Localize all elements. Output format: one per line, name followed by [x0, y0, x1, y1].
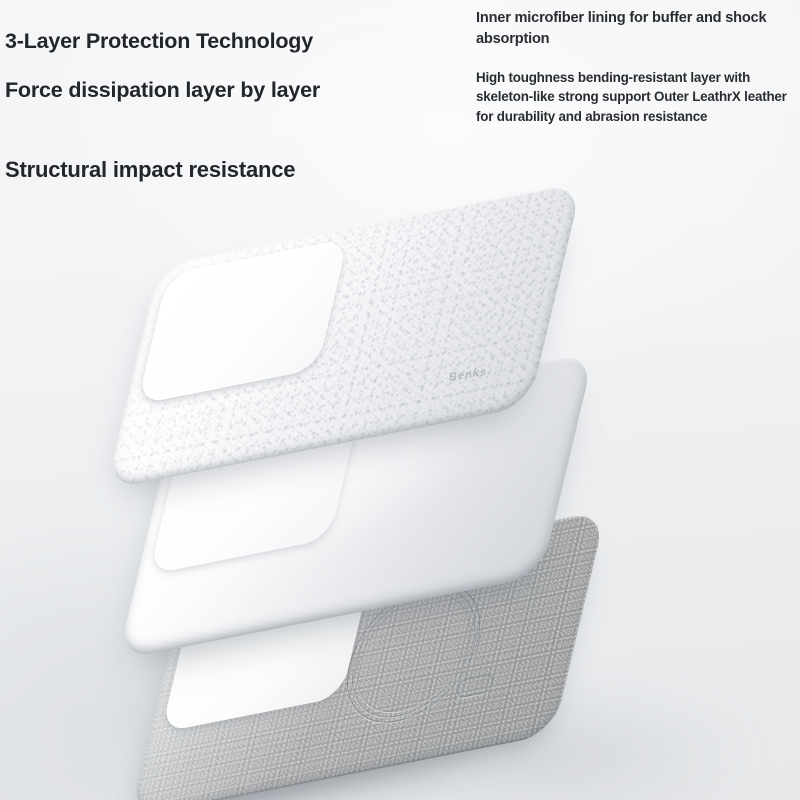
headline-structural: Structural impact resistance [5, 156, 295, 184]
product-exploded-view: Benks 3-Layer Protection Technology Forc… [0, 0, 800, 800]
callout-outer-layer: High toughness bending-resistant layer w… [476, 68, 798, 126]
headline-title: 3-Layer Protection Technology [5, 28, 313, 54]
headline-force-layer: Force dissipation layer by layer [5, 76, 335, 105]
callout-inner-lining: Inner microfiber lining for buffer and s… [476, 8, 794, 50]
